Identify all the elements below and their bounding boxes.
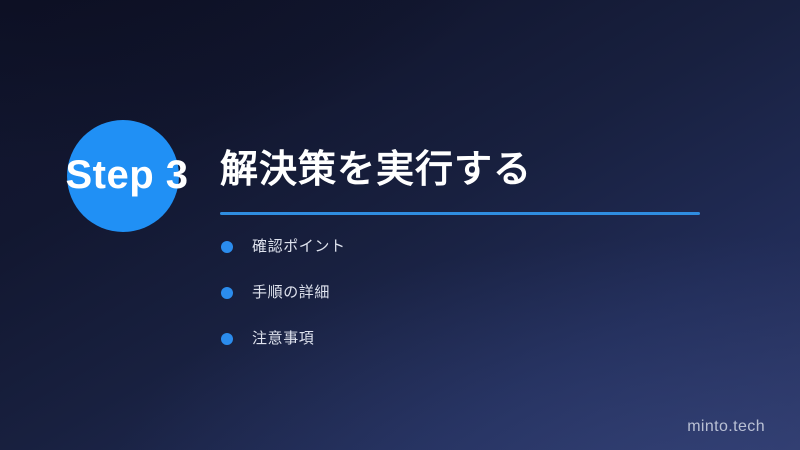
bullet-dot-icon <box>221 241 233 253</box>
presentation-slide: Step 3 解決策を実行する 確認ポイント 手順の詳細 注意事項 minto.… <box>0 0 800 450</box>
list-item: 確認ポイント <box>221 234 346 260</box>
slide-title: 解決策を実行する <box>220 146 532 194</box>
bullet-label: 注意事項 <box>252 329 314 349</box>
bullet-label: 手順の詳細 <box>252 283 330 303</box>
step-badge-label: Step 3 <box>47 152 207 198</box>
bullet-dot-icon <box>221 287 233 299</box>
list-item: 手順の詳細 <box>221 280 346 306</box>
watermark-brand: minto.tech <box>687 418 765 436</box>
list-item: 注意事項 <box>221 326 346 352</box>
bullet-dot-icon <box>221 333 233 345</box>
bullet-label: 確認ポイント <box>252 237 346 257</box>
bullet-list: 確認ポイント 手順の詳細 注意事項 <box>221 234 346 372</box>
title-divider <box>220 212 700 215</box>
